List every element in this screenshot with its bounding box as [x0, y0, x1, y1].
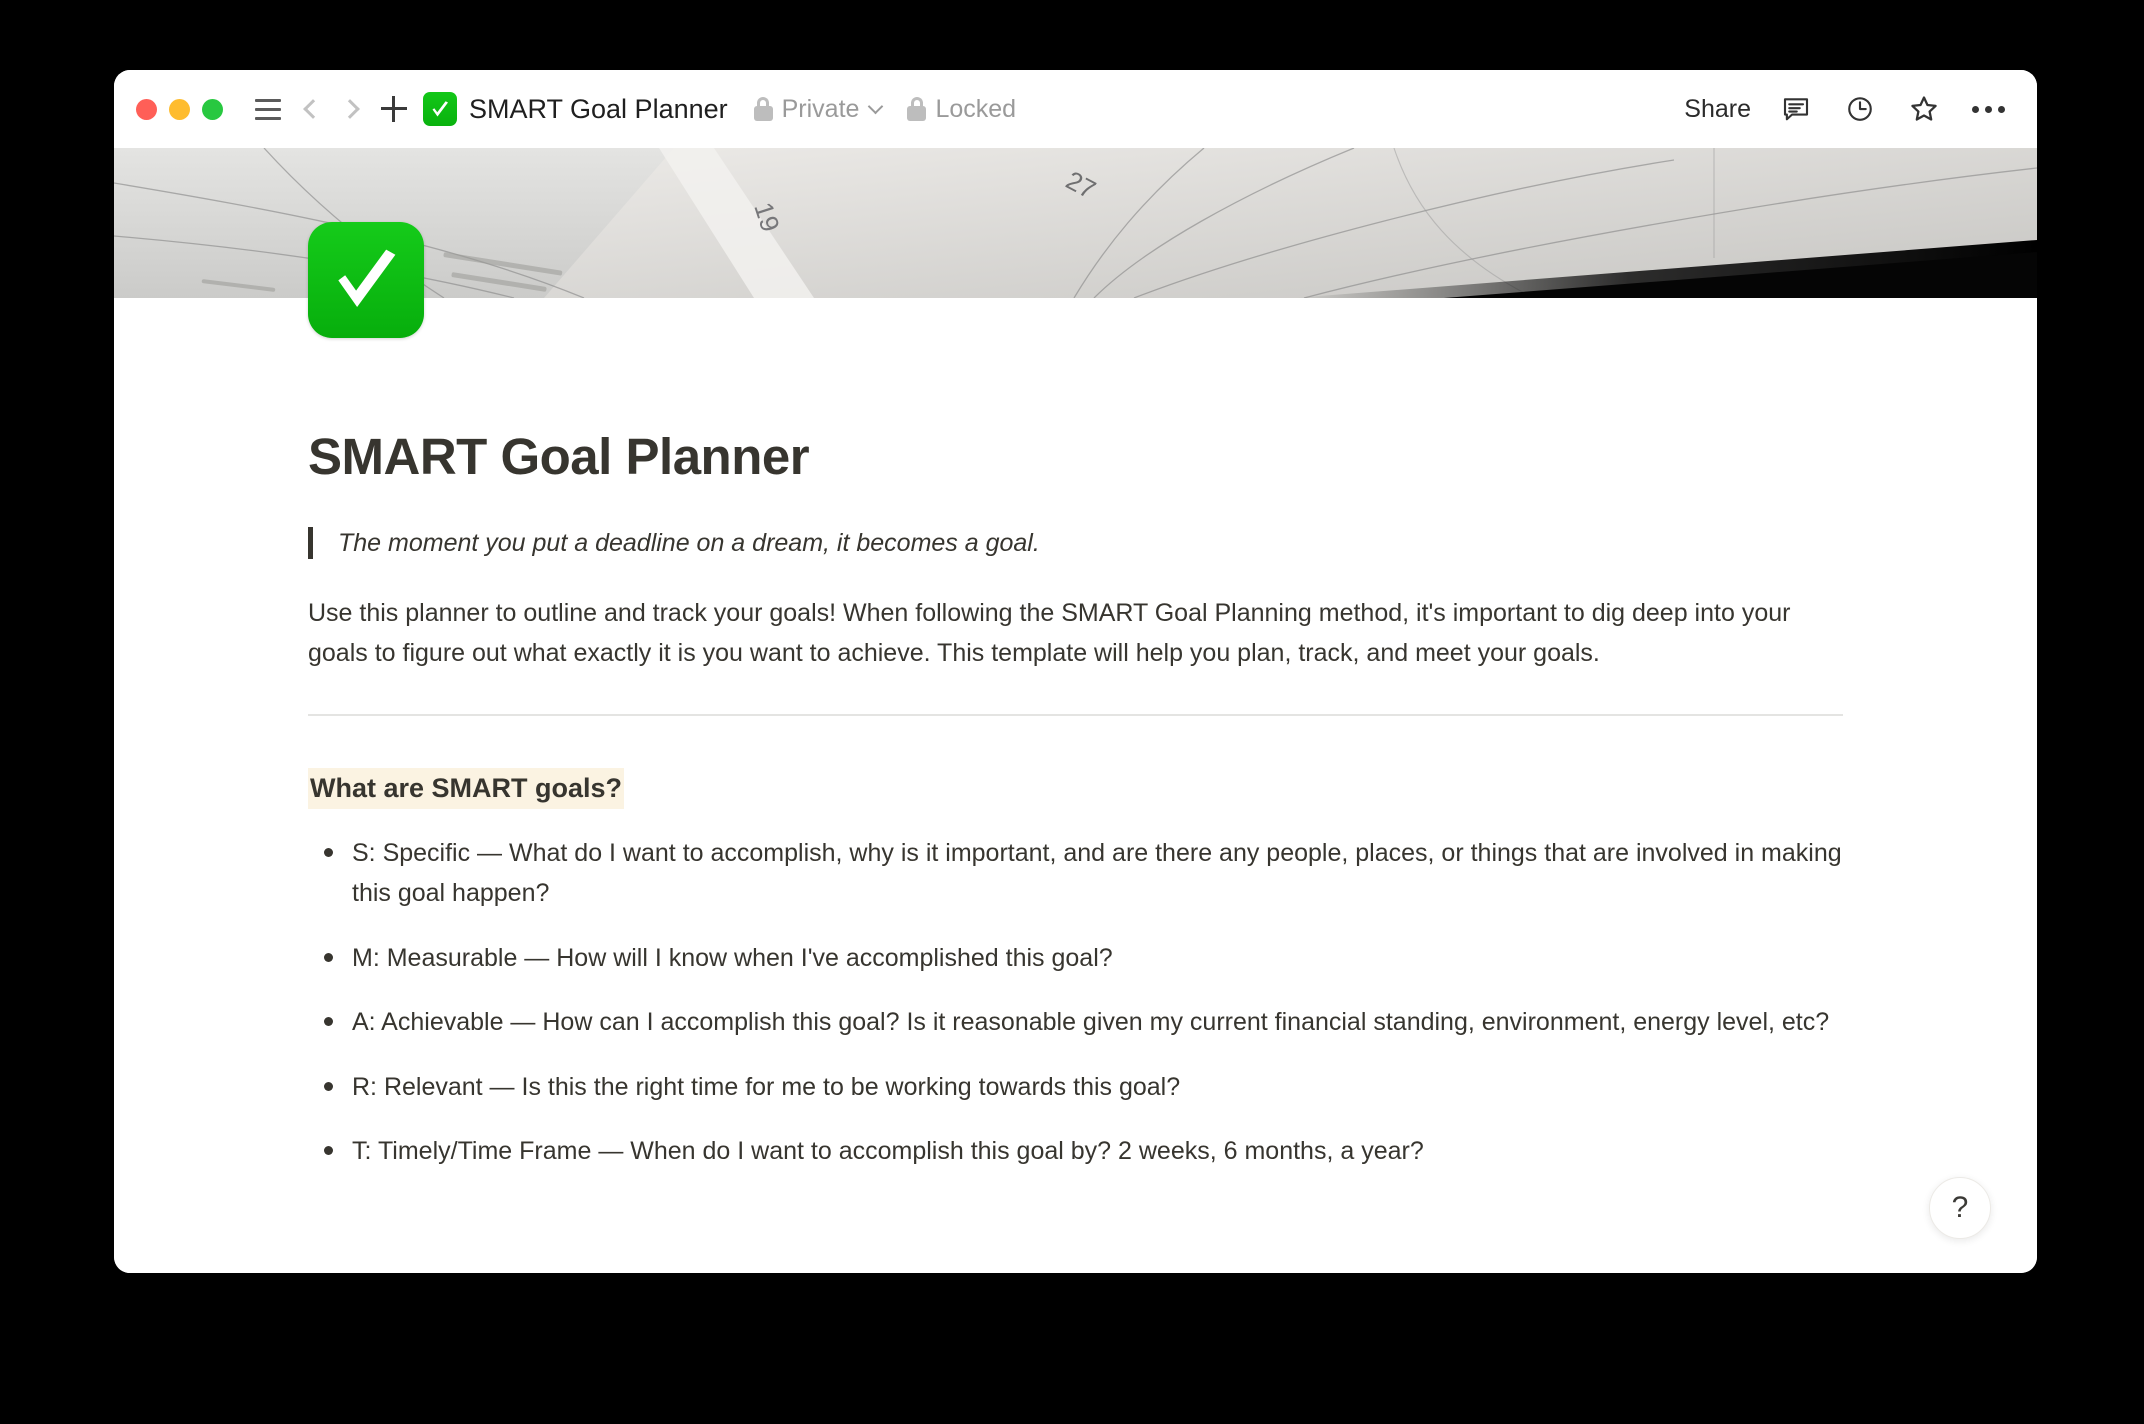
page-history-button[interactable] — [1841, 90, 1879, 128]
more-options-button[interactable] — [1969, 90, 2007, 128]
list-item[interactable]: M: Measurable — How will I know when I'v… — [308, 938, 1853, 979]
locked-label: Locked — [935, 95, 1016, 124]
more-options-icon — [1972, 106, 2005, 113]
page-content: SMART Goal Planner The moment you put a … — [114, 298, 2037, 1172]
toolbar-actions: Share — [1684, 90, 2007, 128]
page-quote[interactable]: The moment you put a deadline on a dream… — [308, 525, 1927, 561]
favorite-button[interactable] — [1905, 90, 1943, 128]
close-window-button[interactable] — [136, 99, 157, 120]
list-item[interactable]: R: Relevant — Is this the right time for… — [308, 1067, 1853, 1108]
document-title[interactable]: SMART Goal Planner — [469, 94, 728, 125]
privacy-label: Private — [782, 95, 860, 124]
chevron-right-icon — [340, 99, 360, 119]
help-button[interactable]: ? — [1929, 1177, 1991, 1239]
list-item[interactable]: S: Specific — What do I want to accompli… — [308, 833, 1853, 914]
title-bar: SMART Goal Planner Private Locked Share — [114, 70, 2037, 148]
page-icon[interactable] — [308, 222, 424, 338]
plus-icon — [381, 96, 407, 122]
lock-icon — [754, 97, 773, 121]
section-divider — [308, 714, 1843, 716]
forward-button[interactable] — [331, 88, 373, 130]
page-title[interactable]: SMART Goal Planner — [308, 298, 1927, 487]
star-icon — [1908, 93, 1940, 125]
list-item[interactable]: T: Timely/Time Frame — When do I want to… — [308, 1131, 1853, 1172]
app-window: SMART Goal Planner Private Locked Share — [114, 70, 2037, 1273]
maximize-window-button[interactable] — [202, 99, 223, 120]
chevron-down-icon — [868, 99, 884, 115]
smart-goals-list: S: Specific — What do I want to accompli… — [308, 833, 1853, 1172]
traffic-lights — [136, 99, 223, 120]
list-item[interactable]: A: Achievable — How can I accomplish thi… — [308, 1002, 1853, 1043]
new-page-button[interactable] — [373, 88, 415, 130]
comment-icon — [1781, 94, 1811, 124]
locked-status[interactable]: Locked — [907, 95, 1016, 124]
chevron-left-icon — [303, 99, 323, 119]
page-intro-paragraph[interactable]: Use this planner to outline and track yo… — [308, 593, 1848, 674]
document-emoji-icon[interactable] — [423, 92, 457, 126]
section-heading[interactable]: What are SMART goals? — [308, 768, 624, 809]
minimize-window-button[interactable] — [169, 99, 190, 120]
check-mark-icon — [325, 239, 407, 321]
privacy-selector[interactable]: Private — [754, 95, 882, 124]
share-button[interactable]: Share — [1684, 95, 1751, 124]
hamburger-icon — [255, 99, 281, 120]
clock-history-icon — [1845, 94, 1875, 124]
sidebar-toggle-button[interactable] — [247, 88, 289, 130]
back-button[interactable] — [289, 88, 331, 130]
lock-icon — [907, 97, 926, 121]
comment-button[interactable] — [1777, 90, 1815, 128]
page-body: SMART Goal Planner The moment you put a … — [114, 298, 2037, 1273]
